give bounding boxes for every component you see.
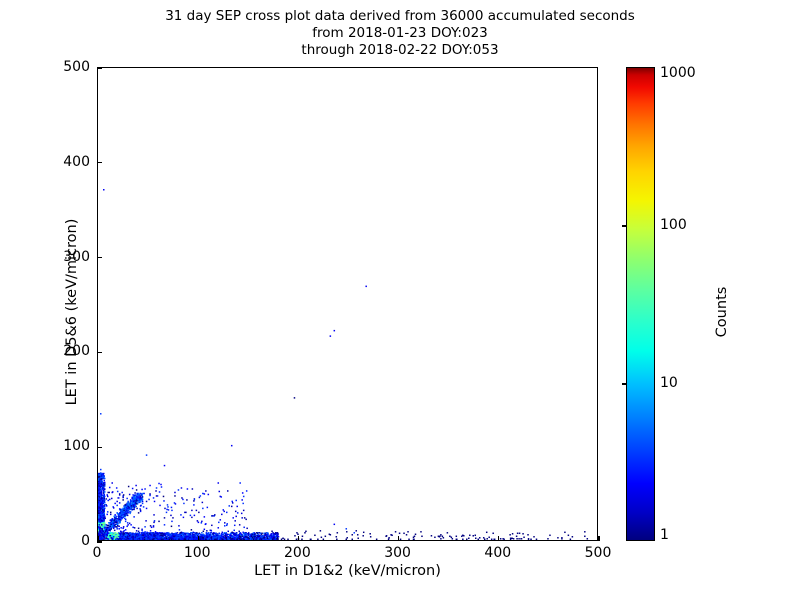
y-tick-mark bbox=[97, 257, 102, 258]
figure-canvas: 31 day SEP cross plot data derived from … bbox=[0, 0, 800, 600]
scatter-data-layer bbox=[98, 68, 597, 540]
x-tick-mark bbox=[97, 536, 98, 541]
x-tick-mark bbox=[198, 536, 199, 541]
colorbar-tick-label: 1 bbox=[660, 527, 669, 543]
x-tick-mark bbox=[598, 536, 599, 541]
x-tick-label: 500 bbox=[585, 545, 612, 561]
x-tick-mark bbox=[498, 536, 499, 541]
colorbar-tick-mark bbox=[622, 225, 627, 226]
title-line-1: 31 day SEP cross plot data derived from … bbox=[0, 8, 800, 25]
x-tick-label: 200 bbox=[284, 545, 311, 561]
figure-title: 31 day SEP cross plot data derived from … bbox=[0, 8, 800, 59]
y-tick-mark bbox=[97, 67, 102, 68]
y-tick-mark bbox=[97, 447, 102, 448]
colorbar-tick-label: 1000 bbox=[660, 65, 696, 81]
y-tick-label: 400 bbox=[40, 154, 90, 170]
x-tick-label: 0 bbox=[93, 545, 102, 561]
y-tick-mark bbox=[97, 352, 102, 353]
x-tick-mark bbox=[298, 536, 299, 541]
colorbar bbox=[626, 67, 655, 541]
colorbar-label: Counts bbox=[714, 212, 730, 412]
title-line-2: from 2018-01-23 DOY:023 bbox=[0, 25, 800, 42]
x-tick-mark bbox=[398, 536, 399, 541]
title-line-3: through 2018-02-22 DOY:053 bbox=[0, 42, 800, 59]
colorbar-tick-label: 10 bbox=[660, 375, 678, 391]
scatter-plot-canvas bbox=[98, 68, 597, 540]
x-tick-label: 100 bbox=[184, 545, 211, 561]
colorbar-tick-label: 100 bbox=[660, 217, 687, 233]
x-axis-label: LET in D1&2 (keV/micron) bbox=[97, 563, 598, 579]
x-tick-label: 400 bbox=[484, 545, 511, 561]
y-tick-label: 0 bbox=[40, 533, 90, 549]
y-tick-label: 500 bbox=[40, 59, 90, 75]
colorbar-tick-mark bbox=[622, 383, 627, 384]
y-tick-mark bbox=[97, 541, 102, 542]
x-tick-label: 300 bbox=[384, 545, 411, 561]
y-axis-label: LET in D5&6 (keV/micron) bbox=[64, 182, 80, 442]
plot-axes-frame bbox=[97, 67, 598, 541]
y-tick-mark bbox=[97, 162, 102, 163]
